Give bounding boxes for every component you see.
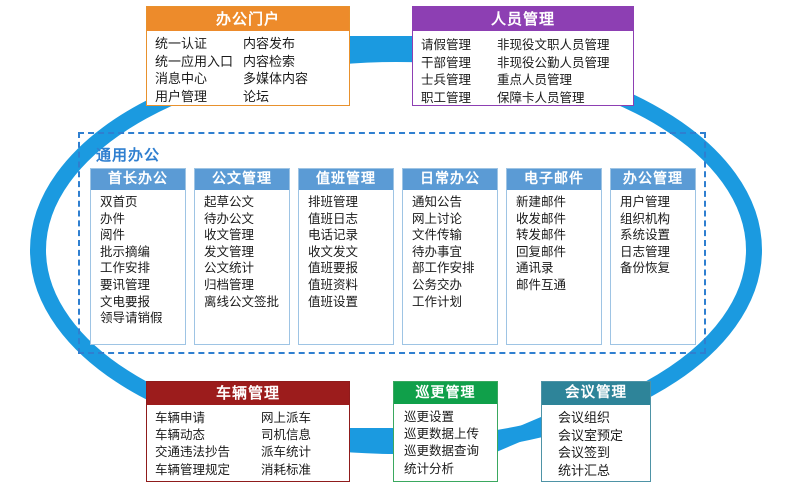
card-items-meeting-management: 会议组织 会议室预定 会议签到 统计汇总: [542, 405, 650, 485]
list-item[interactable]: 司机信息: [261, 426, 345, 443]
list-item[interactable]: 统计分析: [404, 460, 497, 477]
card-title-meeting-management: 会议管理: [542, 382, 650, 405]
card-items-patrol-management: 巡更设置 巡更数据上传 巡更数据查询 统计分析: [394, 404, 497, 482]
list-item[interactable]: 办件: [100, 211, 185, 228]
list-item[interactable]: 回复邮件: [516, 244, 601, 261]
list-item[interactable]: 待办事宜: [412, 244, 497, 261]
list-item[interactable]: 请假管理: [421, 36, 497, 54]
list-item[interactable]: 值班设置: [308, 294, 393, 311]
module-title: 电子邮件: [507, 169, 601, 190]
list-item[interactable]: 部工作安排: [412, 260, 497, 277]
card-personnel-management[interactable]: 人员管理 请假管理 干部管理 士兵管理 职工管理 非现役文职人员管理 非现役公勤…: [412, 6, 634, 106]
list-item[interactable]: 内容检索: [243, 54, 333, 72]
list-item[interactable]: 车辆动态: [155, 426, 261, 443]
module-items: 用户管理 组织机构 系统设置 日志管理 备份恢复: [611, 190, 695, 277]
connector-top: [345, 36, 417, 52]
list-item[interactable]: 交通违法抄告: [155, 443, 261, 460]
list-item[interactable]: 文电要报: [100, 294, 185, 311]
list-item[interactable]: 领导请销假: [100, 310, 185, 327]
list-item[interactable]: 组织机构: [620, 211, 695, 228]
module-office-admin[interactable]: 办公管理 用户管理 组织机构 系统设置 日志管理 备份恢复: [610, 168, 696, 345]
column-2: 非现役文职人员管理 非现役公勤人员管理 重点人员管理 保障卡人员管理: [497, 36, 627, 106]
module-title: 公文管理: [195, 169, 289, 190]
list-item[interactable]: 通讯录: [516, 260, 601, 277]
list-item[interactable]: 归档管理: [204, 277, 289, 294]
list-item[interactable]: 收文发文: [308, 244, 393, 261]
list-item[interactable]: 派车统计: [261, 443, 345, 460]
list-item[interactable]: 用户管理: [620, 194, 695, 211]
list-item[interactable]: 电话记录: [308, 227, 393, 244]
card-patrol-management[interactable]: 巡更管理 巡更设置 巡更数据上传 巡更数据查询 统计分析: [393, 381, 498, 482]
list-item[interactable]: 消息中心: [155, 71, 243, 89]
list-item[interactable]: 值班日志: [308, 211, 393, 228]
module-title: 首长办公: [91, 169, 185, 190]
list-item[interactable]: 排班管理: [308, 194, 393, 211]
card-vehicle-management[interactable]: 车辆管理 车辆申请 车辆动态 交通违法抄告 车辆管理规定 网上派车 司机信息 派…: [146, 381, 350, 482]
module-document-management[interactable]: 公文管理 起草公文 待办公文 收文管理 发文管理 公文统计 归档管理 离线公文签…: [194, 168, 290, 345]
list-item[interactable]: 重点人员管理: [497, 71, 627, 89]
list-item[interactable]: 工作计划: [412, 294, 497, 311]
list-item[interactable]: 待办公文: [204, 211, 289, 228]
module-items: 通知公告 网上讨论 文件传输 待办事宜 部工作安排 公务交办 工作计划: [403, 190, 497, 310]
list-item[interactable]: 车辆管理规定: [155, 461, 261, 478]
list-item[interactable]: 非现役文职人员管理: [497, 36, 627, 54]
card-body-vehicle-management: 车辆申请 车辆动态 交通违法抄告 车辆管理规定 网上派车 司机信息 派车统计 消…: [147, 405, 349, 483]
module-daily-office[interactable]: 日常办公 通知公告 网上讨论 文件传输 待办事宜 部工作安排 公务交办 工作计划: [402, 168, 498, 345]
list-item[interactable]: 内容发布: [243, 36, 333, 54]
list-item[interactable]: 多媒体内容: [243, 71, 333, 89]
list-item[interactable]: 转发邮件: [516, 227, 601, 244]
module-title: 日常办公: [403, 169, 497, 190]
list-item[interactable]: 要讯管理: [100, 277, 185, 294]
list-item[interactable]: 统一应用入口: [155, 54, 243, 72]
card-body-personnel-management: 请假管理 干部管理 士兵管理 职工管理 非现役文职人员管理 非现役公勤人员管理 …: [413, 31, 633, 112]
list-item[interactable]: 发文管理: [204, 244, 289, 261]
diagram-canvas: 办公门户 统一认证 统一应用入口 消息中心 用户管理 内容发布 内容检索 多媒体…: [0, 0, 790, 500]
generic-office-title: 通用办公: [96, 144, 160, 165]
list-item[interactable]: 工作安排: [100, 260, 185, 277]
list-item[interactable]: 新建邮件: [516, 194, 601, 211]
list-item[interactable]: 会议组织: [558, 410, 650, 428]
list-item[interactable]: 通知公告: [412, 194, 497, 211]
list-item[interactable]: 双首页: [100, 194, 185, 211]
list-item[interactable]: 公务交办: [412, 277, 497, 294]
module-items: 排班管理 值班日志 电话记录 收文发文 值班要报 值班资料 值班设置: [299, 190, 393, 310]
list-item[interactable]: 巡更数据上传: [404, 425, 497, 442]
column-2: 网上派车 司机信息 派车统计 消耗标准: [261, 409, 345, 478]
list-item[interactable]: 值班要报: [308, 260, 393, 277]
list-item[interactable]: 论坛: [243, 89, 333, 107]
list-item[interactable]: 会议室预定: [558, 428, 650, 446]
list-item[interactable]: 统计汇总: [558, 463, 650, 481]
list-item[interactable]: 阅件: [100, 227, 185, 244]
list-item[interactable]: 非现役公勤人员管理: [497, 54, 627, 72]
module-email[interactable]: 电子邮件 新建邮件 收发邮件 转发邮件 回复邮件 通讯录 邮件互通: [506, 168, 602, 345]
list-item[interactable]: 系统设置: [620, 227, 695, 244]
column-2: 内容发布 内容检索 多媒体内容 论坛: [243, 36, 333, 106]
column-1: 车辆申请 车辆动态 交通违法抄告 车辆管理规定: [155, 409, 261, 478]
card-title-patrol-management: 巡更管理: [394, 382, 497, 404]
list-item[interactable]: 保障卡人员管理: [497, 89, 627, 107]
card-meeting-management[interactable]: 会议管理 会议组织 会议室预定 会议签到 统计汇总: [541, 381, 651, 482]
list-item[interactable]: 文件传输: [412, 227, 497, 244]
list-item[interactable]: 值班资料: [308, 277, 393, 294]
list-item[interactable]: 用户管理: [155, 89, 243, 107]
card-body-office-portal: 统一认证 统一应用入口 消息中心 用户管理 内容发布 内容检索 多媒体内容 论坛: [147, 31, 349, 112]
list-item[interactable]: 起草公文: [204, 194, 289, 211]
list-item[interactable]: 邮件互通: [516, 277, 601, 294]
list-item[interactable]: 巡更数据查询: [404, 442, 497, 459]
module-duty-management[interactable]: 值班管理 排班管理 值班日志 电话记录 收文发文 值班要报 值班资料 值班设置: [298, 168, 394, 345]
list-item[interactable]: 公文统计: [204, 260, 289, 277]
list-item[interactable]: 收发邮件: [516, 211, 601, 228]
connector-bottom-left: [343, 428, 399, 444]
list-item[interactable]: 职工管理: [421, 89, 497, 107]
card-title-vehicle-management: 车辆管理: [147, 382, 349, 405]
module-items: 双首页 办件 阅件 批示摘编 工作安排 要讯管理 文电要报 领导请销假: [91, 190, 185, 327]
list-item[interactable]: 网上派车: [261, 409, 345, 426]
list-item[interactable]: 网上讨论: [412, 211, 497, 228]
list-item[interactable]: 车辆申请: [155, 409, 261, 426]
card-office-portal[interactable]: 办公门户 统一认证 统一应用入口 消息中心 用户管理 内容发布 内容检索 多媒体…: [146, 6, 350, 106]
list-item[interactable]: 批示摘编: [100, 244, 185, 261]
list-item[interactable]: 统一认证: [155, 36, 243, 54]
list-item[interactable]: 消耗标准: [261, 461, 345, 478]
list-item[interactable]: 收文管理: [204, 227, 289, 244]
column-1: 请假管理 干部管理 士兵管理 职工管理: [421, 36, 497, 106]
card-title-personnel-management: 人员管理: [413, 7, 633, 31]
module-chief-office[interactable]: 首长办公 双首页 办件 阅件 批示摘编 工作安排 要讯管理 文电要报 领导请销假: [90, 168, 186, 345]
list-item[interactable]: 巡更设置: [404, 408, 497, 425]
list-item[interactable]: 会议签到: [558, 445, 650, 463]
list-item[interactable]: 离线公文签批: [204, 294, 289, 311]
module-items: 新建邮件 收发邮件 转发邮件 回复邮件 通讯录 邮件互通: [507, 190, 601, 294]
module-title: 值班管理: [299, 169, 393, 190]
column-1: 统一认证 统一应用入口 消息中心 用户管理: [155, 36, 243, 106]
module-items: 起草公文 待办公文 收文管理 发文管理 公文统计 归档管理 离线公文签批: [195, 190, 289, 310]
list-item[interactable]: 士兵管理: [421, 71, 497, 89]
list-item[interactable]: 备份恢复: [620, 260, 695, 277]
list-item[interactable]: 干部管理: [421, 54, 497, 72]
list-item[interactable]: 日志管理: [620, 244, 695, 261]
card-title-office-portal: 办公门户: [147, 7, 349, 31]
module-title: 办公管理: [611, 169, 695, 190]
